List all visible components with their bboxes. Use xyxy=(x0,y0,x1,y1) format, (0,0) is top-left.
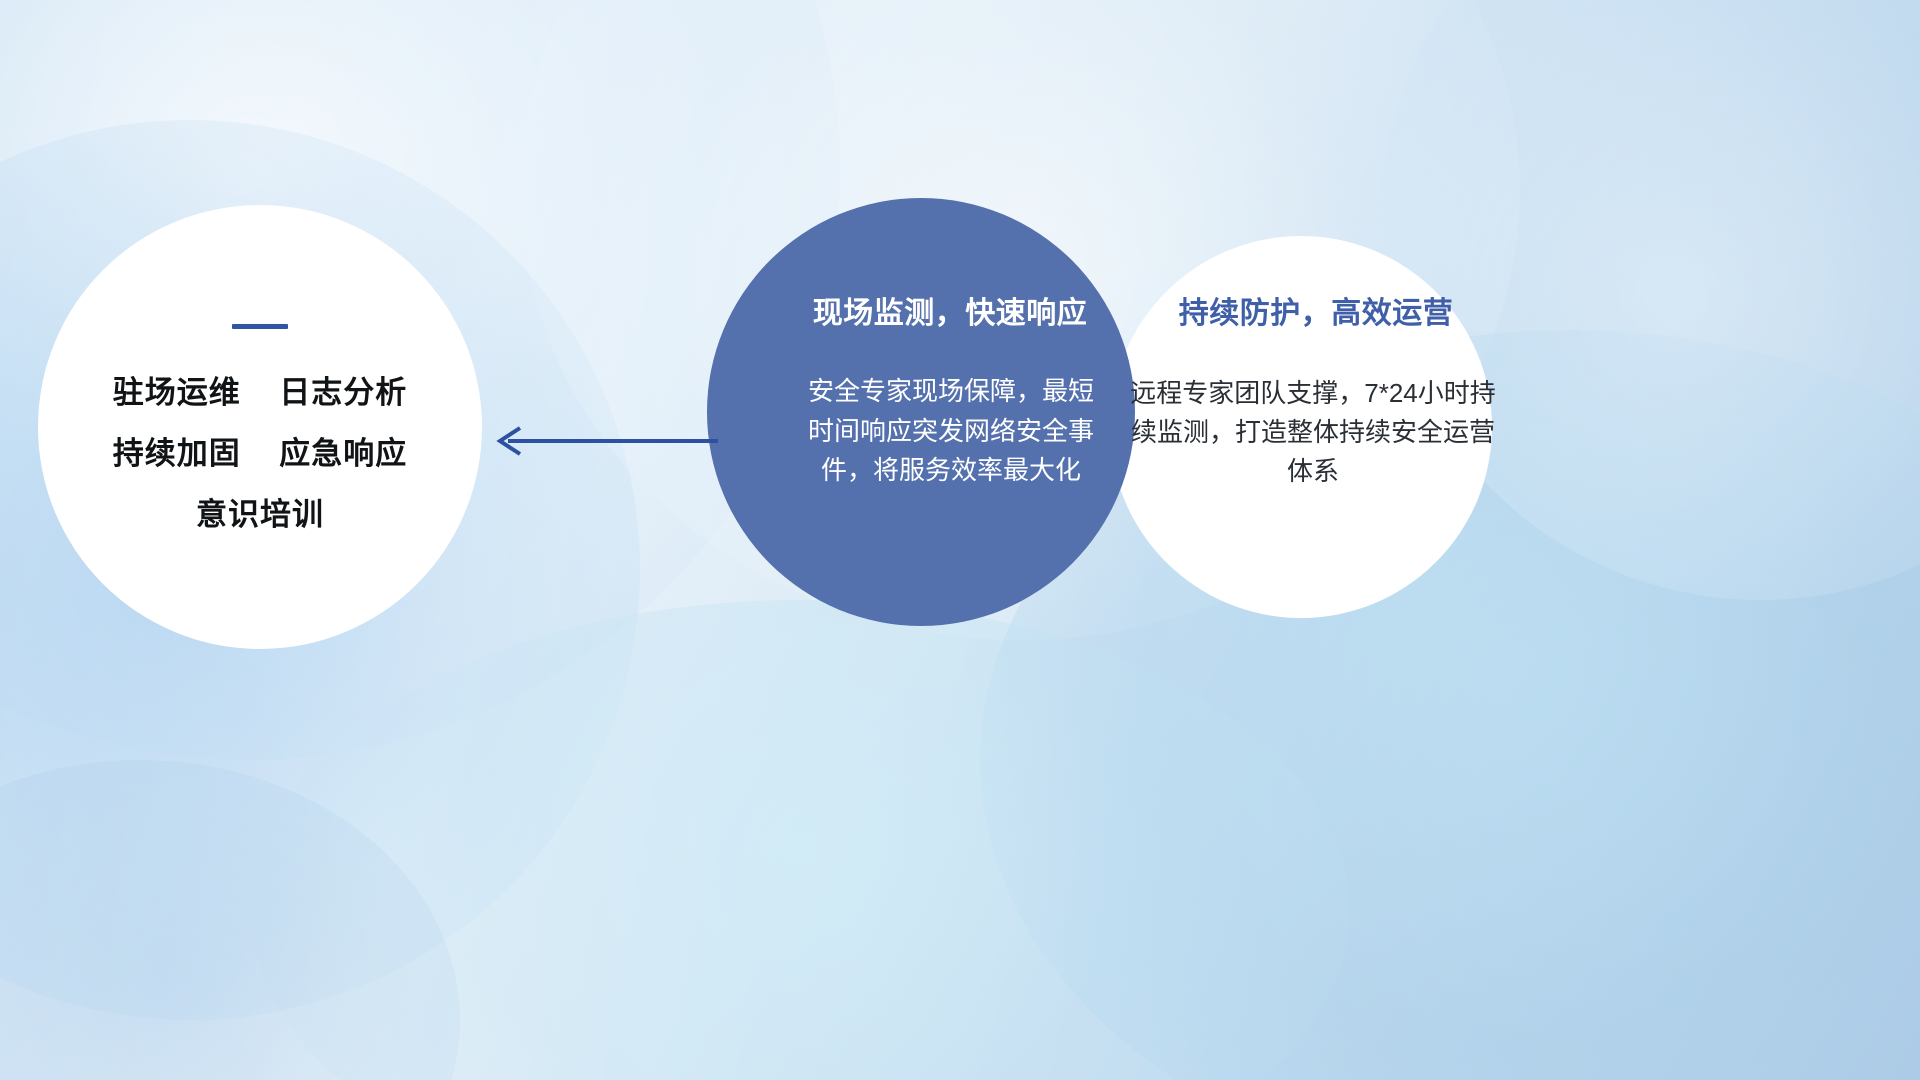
background-glow-bottom-left xyxy=(0,760,460,1080)
middle-circle-title: 现场监测，快速响应 xyxy=(813,288,1088,332)
horizontal-dash-icon xyxy=(232,324,288,329)
left-circle-content: 驻场运维 日志分析 持续加固 应急响应 意识培训 xyxy=(38,205,482,649)
slide-canvas: 驻场运维 日志分析 持续加固 应急响应 意识培训 现场监测，快速响应 安全专家现… xyxy=(0,0,1920,1080)
left-circle-line-1: 驻场运维 日志分析 xyxy=(113,377,407,408)
right-circle-title: 持续防护，高效运营 xyxy=(1179,288,1454,332)
middle-circle-content: 现场监测，快速响应 安全专家现场保障，最短时间响应突发网络安全事件，将服务效率最… xyxy=(707,198,1135,626)
left-circle-line-3: 意识培训 xyxy=(196,499,324,530)
right-circle-body: 远程专家团队支撑，7*24小时持续监测，打造整体持续安全运营体系 xyxy=(1129,374,1497,491)
right-circle-content: 持续防护，高效运营 远程专家团队支撑，7*24小时持续监测，打造整体持续安全运营… xyxy=(1110,236,1492,618)
left-circle-line-2: 持续加固 应急响应 xyxy=(113,438,407,469)
middle-circle-body: 安全专家现场保障，最短时间响应突发网络安全事件，将服务效率最大化 xyxy=(801,372,1101,491)
arrow-left-icon xyxy=(490,418,720,464)
background-glow-bottom-center xyxy=(250,600,1350,1080)
